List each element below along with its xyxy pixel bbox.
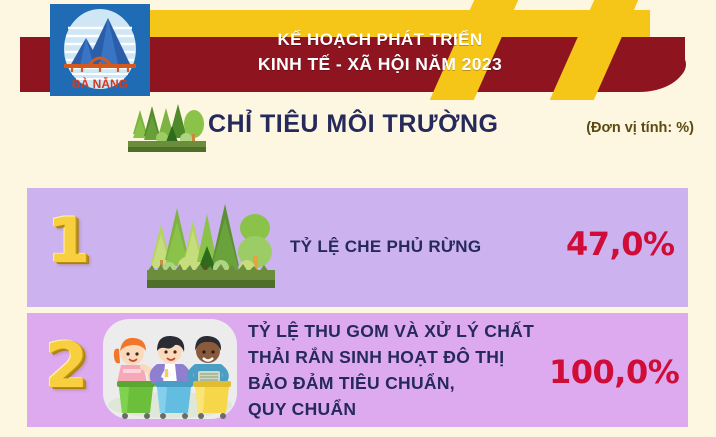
header-banner: KẾ HOẠCH PHÁT TRIỂN KINH TẾ - XÃ HỘI NĂM… xyxy=(0,0,716,100)
banner-title-line-2: KINH TẾ - XÃ HỘI NĂM 2023 xyxy=(160,52,600,76)
indicator-label-2-line-3: BẢO ĐẢM TIÊU CHUẨN, xyxy=(248,370,534,396)
unit-note: (Đơn vị tính: %) xyxy=(586,120,694,136)
children-recycling-bins-illustration xyxy=(95,313,245,425)
infographic-page: KẾ HOẠCH PHÁT TRIỂN KINH TẾ - XÃ HỘI NĂM… xyxy=(0,0,716,437)
indicator-label-1: TỶ LỆ CHE PHỦ RỪNG xyxy=(290,237,481,257)
banner-title-line-1: KẾ HOẠCH PHÁT TRIỂN xyxy=(160,28,600,52)
indicator-label-2-line-2: THẢI RẮN SINH HOẠT ĐÔ THỊ xyxy=(248,344,534,370)
page-title: CHỈ TIÊU MÔI TRƯỜNG xyxy=(208,110,498,139)
indicator-value-1: 47,0% xyxy=(566,225,675,263)
banner-title: KẾ HOẠCH PHÁT TRIỂN KINH TẾ - XÃ HỘI NĂM… xyxy=(160,28,600,76)
indicator-label-2-line-4: QUY CHUẨN xyxy=(248,396,534,422)
indicator-number-1: 1 xyxy=(47,210,90,272)
da-nang-emblem-icon: ĐÀ NẴNG xyxy=(50,4,150,96)
indicator-value-2: 100,0% xyxy=(549,353,679,391)
indicator-number-2: 2 xyxy=(45,335,88,397)
forest-trees-icon xyxy=(128,104,206,152)
forest-trees-illustration xyxy=(147,198,275,290)
indicator-label-2-line-1: TỶ LỆ THU GOM VÀ XỬ LÝ CHẤT xyxy=(248,318,534,344)
indicator-label-2: TỶ LỆ THU GOM VÀ XỬ LÝ CHẤT THẢI RẮN SIN… xyxy=(248,318,534,422)
emblem-label: ĐÀ NẴNG xyxy=(72,76,128,91)
